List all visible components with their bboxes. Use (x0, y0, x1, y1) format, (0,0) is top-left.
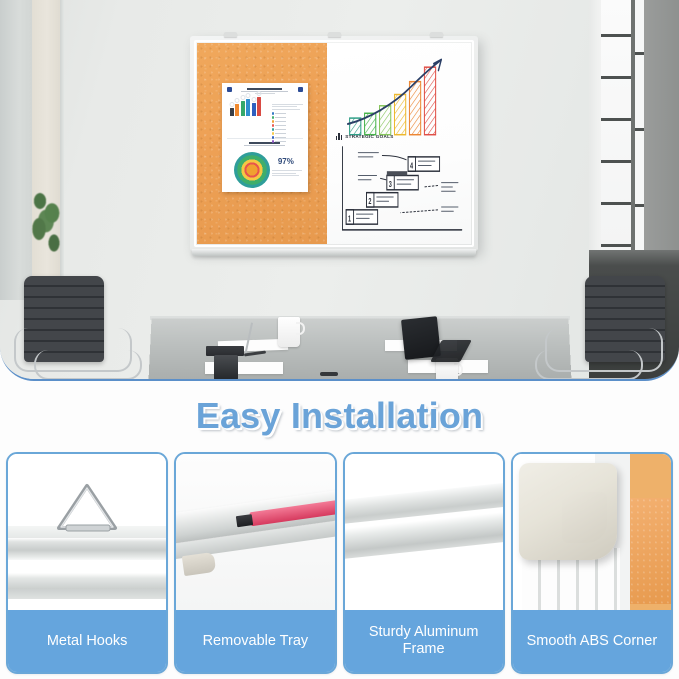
svg-text:1: 1 (348, 212, 351, 223)
feature-card-row: Metal Hooks Removable Tray Sturdy Alumin… (0, 452, 679, 674)
poster-donut-chart (234, 152, 270, 188)
pinned-infographic-poster: 97% (222, 83, 308, 192)
shelf-rung (601, 202, 631, 205)
office-chair-left (10, 276, 142, 381)
removable-tray-photo (176, 454, 334, 610)
tray-end-cap (181, 552, 215, 576)
card-label-removable-tray: Removable Tray (176, 610, 334, 672)
svg-text:3: 3 (388, 178, 391, 189)
product-feature-page: 97% (0, 0, 679, 679)
combination-whiteboard: 97% (190, 36, 478, 251)
feature-card-abs-corner[interactable]: Smooth ABS Corner (511, 452, 673, 674)
dry-erase-half: STRATEGIC GOALS (327, 43, 471, 244)
shelf-rung (635, 52, 644, 55)
poster-title-bar (247, 88, 282, 90)
office-plant (26, 185, 70, 260)
mounting-hook (328, 32, 341, 37)
coffee-mug (278, 317, 300, 347)
triangle-hook-icon (52, 481, 122, 537)
whiteboard-surface: 97% (197, 43, 471, 244)
shelf-rung (601, 34, 631, 37)
window-glass-pane-narrow (635, 0, 644, 290)
card-label-abs-corner: Smooth ABS Corner (513, 610, 671, 672)
pen-cup (214, 355, 238, 381)
whiteboard-marker-tray (192, 249, 476, 256)
svg-text:4: 4 (410, 160, 413, 171)
metal-hooks-photo (8, 454, 166, 610)
hand-drawn-staircase-diagram: 1 2 3 4 (336, 144, 465, 238)
shelf-rung (635, 204, 644, 207)
cork-edge (630, 498, 671, 604)
shelf-rung (601, 118, 631, 121)
poster-kpi-value: 97% (278, 157, 294, 166)
feature-card-metal-hooks[interactable]: Metal Hooks (6, 452, 168, 674)
card-label-aluminum-frame: Sturdy Aluminum Frame (345, 610, 503, 672)
headline-section: Easy Installation (0, 385, 679, 447)
feature-card-aluminum-frame[interactable]: Sturdy Aluminum Frame (343, 452, 505, 674)
feature-card-removable-tray[interactable]: Removable Tray (174, 452, 336, 674)
poster-legend (272, 102, 303, 143)
cork-bulletin-half: 97% (197, 43, 327, 244)
window-shelving-unit (589, 0, 679, 290)
poster-logo-right (298, 87, 303, 92)
svg-text:2: 2 (368, 195, 371, 206)
card-label-metal-hooks: Metal Hooks (8, 610, 166, 672)
hero-office-scene: 97% (0, 0, 679, 381)
shelf-rung (635, 128, 644, 131)
desk-pen (320, 372, 338, 376)
abs-corner-cap (519, 463, 617, 560)
page-title: Easy Installation (196, 395, 484, 437)
mounting-hook (430, 32, 443, 37)
window-mullion (631, 0, 635, 290)
shelf-rung (601, 76, 631, 79)
hand-drawn-growth-bar-chart (344, 57, 456, 137)
shelf-rung (601, 160, 631, 163)
office-chair-right (535, 276, 667, 381)
strategic-goals-heading: STRATEGIC GOALS (336, 133, 394, 140)
mounting-hook (224, 32, 237, 37)
poster-logo-left (227, 87, 232, 92)
shelf-rung (601, 244, 631, 247)
abs-corner-photo (513, 454, 671, 610)
poster-subtitle-bar (241, 91, 288, 92)
aluminum-frame-photo (345, 454, 503, 610)
bar-chart-icon (336, 133, 343, 140)
